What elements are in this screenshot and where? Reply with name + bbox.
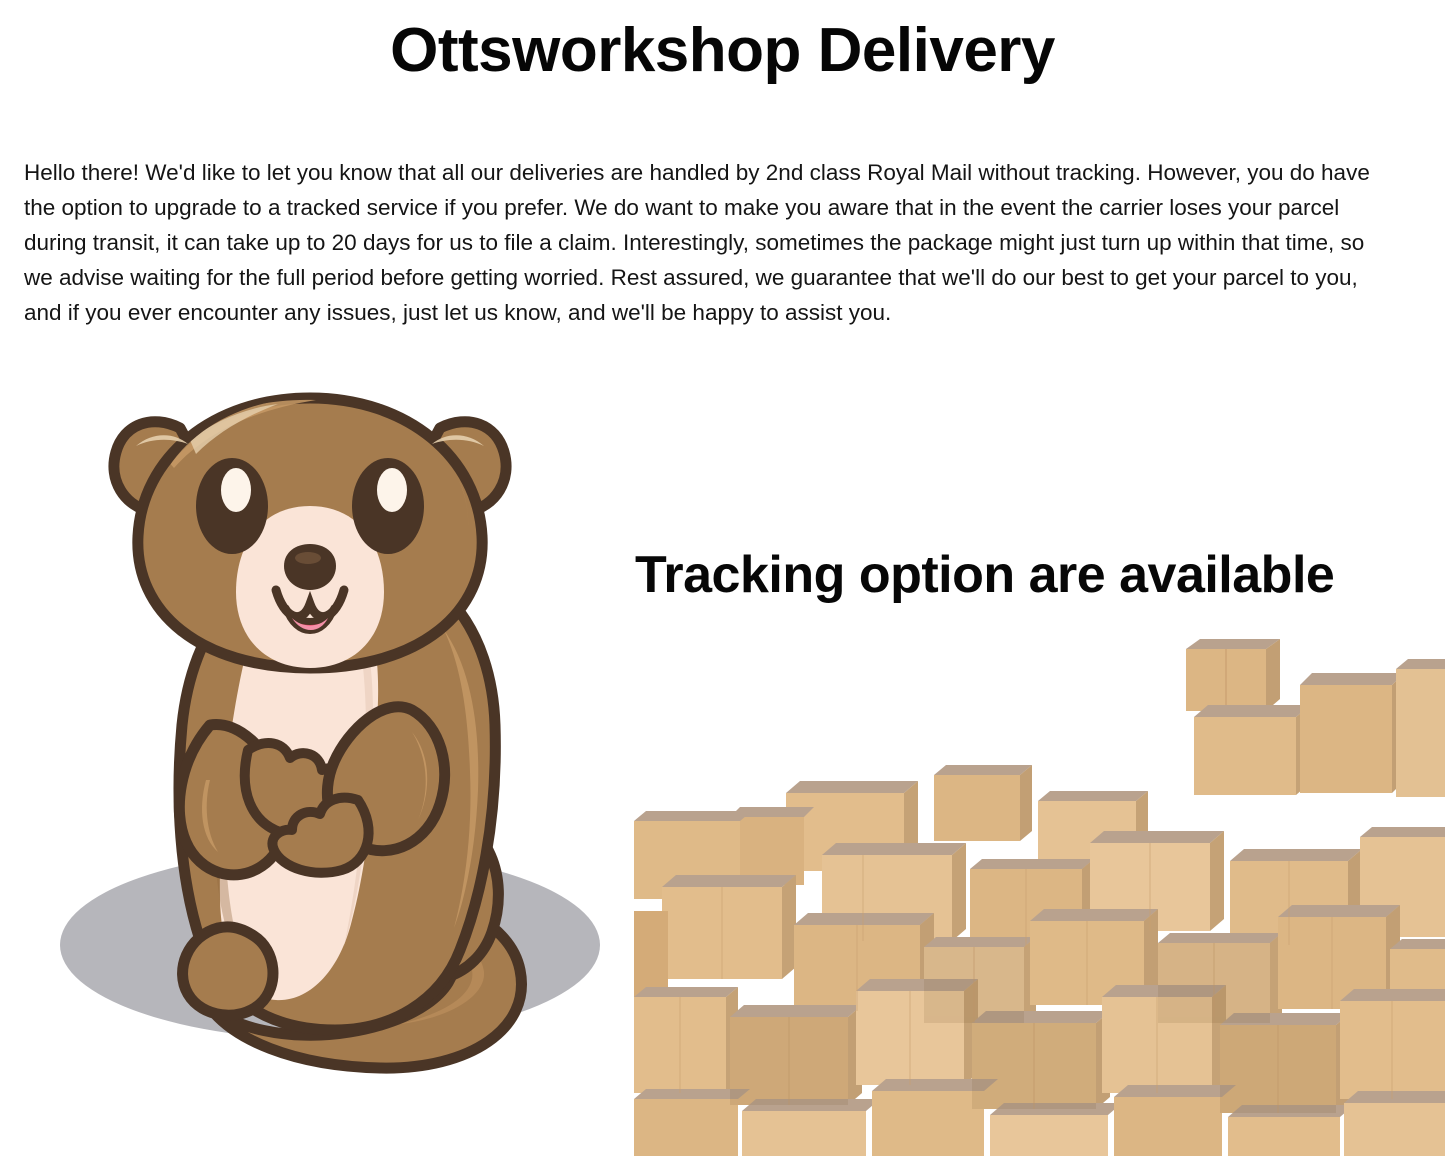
cardboard-boxes-image (634, 625, 1445, 1156)
tracking-option-heading: Tracking option are available (635, 545, 1334, 605)
otter-left-foot (183, 927, 273, 1015)
page-title: Ottsworkshop Delivery (0, 18, 1445, 83)
delivery-information-paragraph: Hello there! We'd like to let you know t… (24, 155, 1380, 330)
otter-illustration (40, 380, 630, 1080)
otter-right-eye-highlight (377, 468, 407, 512)
otter-left-eye-highlight (221, 468, 251, 512)
otter-nose (284, 544, 336, 590)
otter-head (114, 398, 506, 668)
